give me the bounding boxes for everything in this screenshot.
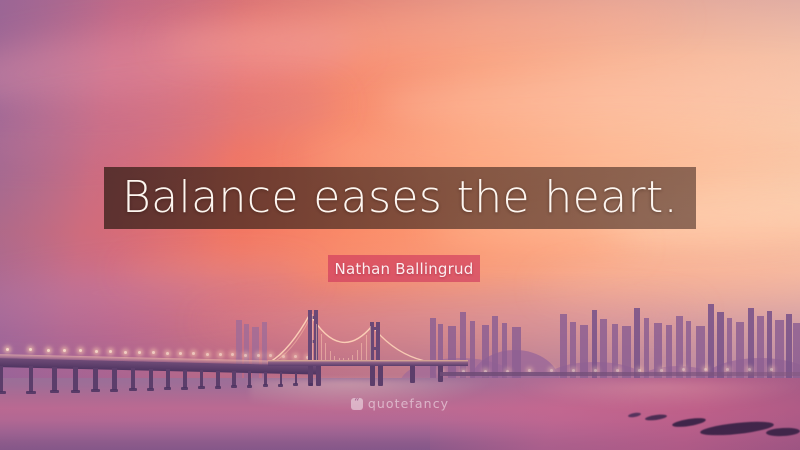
viaduct-pier-footing [198,386,204,389]
viaduct-pier-footing [129,388,137,391]
cable-hanger [325,343,326,360]
street-lamp [138,351,141,354]
street-lamp [95,350,98,353]
viaduct-pier [131,368,135,389]
suspension-bridge [280,300,460,384]
viaduct-pier-footing [181,387,188,390]
building [236,320,242,384]
viaduct-pier-footing [247,385,252,388]
viaduct-pier-footing [278,384,283,387]
viaduct-pier-footing [309,383,313,386]
viaduct-pier-footing [110,389,118,392]
author-name: Nathan Ballingrud [335,260,474,278]
cable-hanger [352,355,353,360]
street-lamp [166,352,169,355]
viaduct-pier-footing [0,391,6,394]
cable-hanger [370,326,371,360]
far-bridge-deck [440,372,800,376]
viaduct-pier-footing [26,391,36,394]
cable-hanger [316,324,317,360]
viaduct-pier [73,367,78,390]
street-lamp [6,348,9,351]
street-lamp [219,353,222,356]
viaduct-pier [183,370,187,388]
viaduct-pier [29,366,34,391]
street-lamp [206,353,209,356]
bridge-pier [410,366,415,383]
cable-hanger [334,356,335,360]
street-lamp [124,351,127,354]
street-lamp [244,354,247,357]
viaduct-pier [200,370,203,387]
cable-hanger [312,314,313,360]
viaduct-pier-footing [50,390,59,393]
viaduct-pier-footing [263,384,268,387]
viaduct-pier [93,368,97,390]
bridge-pier [378,366,383,386]
cable-hanger [348,358,349,360]
cable-hanger [321,334,322,360]
viaduct-pier-footing [71,390,80,393]
viaduct-pier-footing [215,386,221,389]
quote-banner: Balance eases the heart. [104,167,696,229]
viaduct-pier-footing [91,389,100,392]
tower-crossbeam [308,316,318,319]
viaduct-pier [0,366,3,392]
cable-hanger [366,335,367,360]
viaduct-pier-footing [231,385,237,388]
viaduct-pier [216,371,219,387]
cable-right-backstay [372,326,430,362]
viaduct-pier-footing [164,387,171,390]
quote-text: Balance eases the heart. [122,176,678,220]
cable-hanger [357,350,358,360]
cable-hanger [343,358,344,360]
viaduct-pier [149,369,153,389]
cable-main-span [310,314,372,342]
cable-hanger [330,351,331,360]
street-lamp [257,354,260,357]
viaduct-pier [264,372,267,386]
tower-crossbeam [370,327,380,330]
viaduct-pier [52,367,57,391]
cable-hanger [339,358,340,360]
author-banner: Nathan Ballingrud [328,255,480,282]
cable-hanger [361,343,362,360]
bridge-pier [370,366,375,386]
viaduct-pier [166,369,170,388]
viaduct-pier [248,371,251,386]
quote-image: Balance eases the heart. Nathan Ballingr… [0,0,800,450]
quote-mark-icon: “ [351,398,363,410]
street-lamp [47,349,50,352]
watermark-text: quotefancy [368,396,449,411]
viaduct-pier [232,371,235,386]
street-lamp [748,368,751,371]
watermark: “ quotefancy [0,396,800,411]
street-lamp [770,368,773,371]
viaduct-pier [112,368,116,390]
bridge-pier [316,366,321,386]
viaduct-pier-footing [147,388,155,391]
tower-crossbeam [370,347,380,350]
